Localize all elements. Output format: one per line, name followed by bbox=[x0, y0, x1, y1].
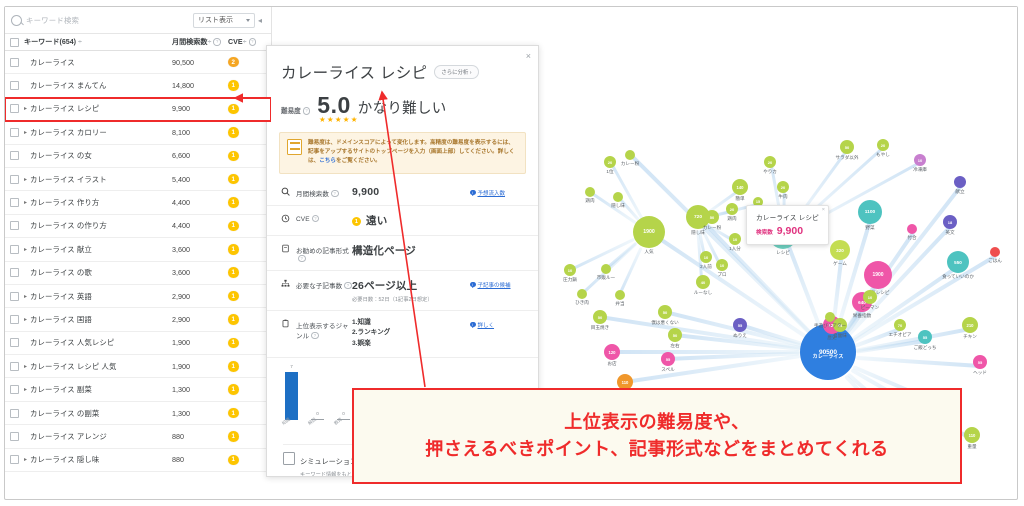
node-value: 10 bbox=[568, 268, 572, 273]
node-label: 牛肉 bbox=[778, 194, 787, 200]
tooltip-title: カレーライス レシピ bbox=[756, 212, 819, 222]
keyword-rows: カレーライス90,5002カレーライス まんてん14,8001▸カレーライス レ… bbox=[5, 51, 271, 477]
graph-node[interactable]: 20 bbox=[877, 139, 889, 151]
node-label: もやし bbox=[876, 152, 890, 158]
keyword-label: カレーライス 隠し味 bbox=[30, 454, 172, 465]
chart-bar: 0解説 bbox=[311, 419, 324, 420]
cve-badge: 1 bbox=[228, 197, 239, 208]
detail-label: CVE? bbox=[291, 213, 352, 223]
node-label: 簡単 bbox=[735, 196, 744, 202]
volume-value: 3,600 bbox=[172, 268, 228, 277]
table-row[interactable]: カレーライス の歌3,6001 bbox=[5, 262, 271, 285]
table-row[interactable]: カレーライス 人気レシピ1,9001 bbox=[5, 332, 271, 355]
cve-cell: 1 bbox=[228, 267, 266, 278]
simulation-title: シミュレーション bbox=[300, 457, 357, 466]
keyword-label: カレーライス まんてん bbox=[30, 80, 172, 91]
graph-node[interactable]: 10 bbox=[716, 259, 728, 271]
keyword-label: カレーライス 副菜 bbox=[30, 384, 172, 395]
row-checkbox[interactable] bbox=[10, 455, 19, 464]
node-value: 50 bbox=[845, 145, 849, 150]
node-value: 10 bbox=[704, 255, 708, 260]
notice-text: 難易度は、ドメインスコアによって変化します。高精度の難易度を表示するには、記事を… bbox=[308, 139, 518, 167]
row-checkbox[interactable] bbox=[10, 315, 19, 324]
node-label: ルーなし bbox=[694, 290, 712, 296]
row-checkbox[interactable] bbox=[10, 292, 19, 301]
node-label: カレー粉 bbox=[703, 225, 721, 231]
graph-node[interactable] bbox=[954, 176, 966, 188]
volume-value: 1,900 bbox=[172, 338, 228, 347]
cve-cell: 1 bbox=[228, 408, 266, 419]
keyword-toolbar: キーワード検索 リスト表示 ◂ bbox=[5, 7, 271, 34]
volume-value: 2,900 bbox=[172, 292, 228, 301]
clock-icon bbox=[279, 213, 291, 223]
app-screenshot: キーワード検索 リスト表示 ◂ キーワード(654) ÷ 月間検索数÷? CVE… bbox=[0, 0, 1024, 506]
detail-link[interactable]: i子記事の候補 bbox=[470, 278, 528, 289]
keyword-list-panel: キーワード検索 リスト表示 ◂ キーワード(654) ÷ 月間検索数÷? CVE… bbox=[5, 7, 272, 477]
keyword-label: カレーライス レシピ bbox=[30, 103, 172, 114]
row-checkbox[interactable] bbox=[10, 245, 19, 254]
node-label: 鶏肉 bbox=[585, 198, 594, 204]
node-value: 50 bbox=[673, 333, 677, 338]
cve-cell: 1 bbox=[228, 221, 266, 232]
cve-badge: 1 bbox=[228, 361, 239, 372]
keyword-label: カレーライス の副菜 bbox=[30, 408, 172, 419]
node-value: 55 bbox=[666, 357, 670, 362]
volume-value: 880 bbox=[172, 455, 228, 464]
tooltip-close-icon[interactable]: × bbox=[822, 207, 825, 213]
node-value: 10 bbox=[868, 295, 872, 300]
callout-line-2: 押さえるべきポイント、記事形式などをまとめてくれる bbox=[425, 436, 889, 463]
node-value: 320 bbox=[836, 248, 844, 253]
difficulty-notice: 難易度は、ドメインスコアによって変化します。高精度の難易度を表示するには、記事を… bbox=[279, 132, 526, 174]
node-label: 野菜 bbox=[865, 225, 874, 231]
node-label: やりカ bbox=[763, 169, 777, 175]
cve-cell: 1 bbox=[228, 151, 266, 162]
node-value: 140 bbox=[737, 185, 744, 190]
table-row[interactable]: ▸カレーライス カロリー8,1001 bbox=[5, 121, 271, 144]
table-row[interactable]: ▸カレーライス 副菜1,3001 bbox=[5, 378, 271, 401]
node-label: 冷凍庫 bbox=[913, 167, 927, 173]
node-label: ひき肉 bbox=[575, 300, 589, 306]
detail-rows: 月間検索数?9,900i予想流入数CVE?1遠いお勧めの記事形式?構造化ページ必… bbox=[267, 179, 538, 358]
detail-label: 月間検索数? bbox=[291, 186, 352, 198]
graph-node[interactable]: 10 bbox=[914, 154, 926, 166]
graph-node[interactable]: 50 bbox=[658, 305, 672, 319]
cve-badge: 1 bbox=[228, 314, 239, 325]
table-row[interactable]: ▸カレーライス イラスト5,4001 bbox=[5, 168, 271, 191]
tooltip-metric-label: 検索数 bbox=[756, 228, 773, 236]
node-label: カレー粉 bbox=[621, 161, 639, 167]
keyword-label: カレーライス 人気レシピ bbox=[30, 337, 172, 348]
node-label: 手遊びシアター bbox=[814, 323, 846, 329]
cve-badge: 1 bbox=[228, 291, 239, 302]
table-row[interactable]: ▸カレーライス 英語2,9001 bbox=[5, 285, 271, 308]
volume-value: 9,900 bbox=[172, 104, 228, 113]
detail-link bbox=[470, 243, 528, 246]
node-label: レシピ bbox=[776, 250, 790, 256]
node-label: 1位 bbox=[606, 169, 613, 175]
node-label: 目玉焼き bbox=[591, 325, 609, 331]
cve-badge: 1 bbox=[228, 455, 239, 466]
row-checkbox[interactable] bbox=[10, 432, 19, 441]
keyword-label: カレーライス bbox=[30, 57, 172, 68]
search-icon bbox=[279, 186, 291, 196]
keyword-label: カレーライス イラスト bbox=[30, 174, 172, 185]
node-label: 献立 bbox=[955, 189, 964, 195]
table-row[interactable]: ▸カレーライス 国語2,9001 bbox=[5, 308, 271, 331]
graph-tooltip: × カレーライス レシピ 検索数 9,900 bbox=[746, 205, 829, 245]
column-keyword[interactable]: キーワード(654) ÷ bbox=[24, 37, 172, 47]
node-label: 食っていいのか bbox=[942, 274, 974, 280]
cve-badge: 1 bbox=[228, 174, 239, 185]
row-checkbox[interactable] bbox=[10, 81, 19, 90]
chart-bar: 7知識 bbox=[285, 372, 298, 420]
keyword-label: カレーライス の歌 bbox=[30, 267, 172, 278]
node-label: 栄養指数 bbox=[853, 313, 871, 319]
graph-node[interactable]: 10 bbox=[700, 251, 712, 263]
node-value: 40 bbox=[701, 280, 705, 285]
keyword-label: カレーライス 献立 bbox=[30, 244, 172, 255]
node-label: ピーマン bbox=[861, 305, 879, 311]
detail-label: 必要な子記事数? bbox=[291, 278, 352, 290]
detail-link bbox=[470, 213, 528, 216]
search-placeholder: キーワード検索 bbox=[26, 15, 79, 26]
document-icon bbox=[279, 243, 291, 253]
select-all-checkbox[interactable] bbox=[10, 38, 19, 47]
table-row[interactable]: ▸カレーライス 隠し味8801 bbox=[5, 449, 271, 472]
cve-badge: 1 bbox=[228, 338, 239, 349]
table-row[interactable]: カレーライス の作り方4,4001 bbox=[5, 215, 271, 238]
node-label: 付合 bbox=[907, 235, 916, 241]
callout-line-1: 上位表示の難易度や、 bbox=[564, 409, 749, 436]
node-value: 210 bbox=[967, 323, 974, 328]
volume-value: 3,600 bbox=[172, 245, 228, 254]
detail-row: 必要な子記事数?26ページ以上必要日数：52日（1記事2日想定）i子記事の候補 bbox=[267, 271, 538, 311]
cve-cell: 1 bbox=[228, 431, 266, 442]
graph-node[interactable]: 320 bbox=[830, 240, 850, 260]
node-value: 110 bbox=[969, 433, 976, 438]
graph-node[interactable]: 20 bbox=[726, 203, 738, 215]
graph-node[interactable]: 50 bbox=[668, 328, 682, 342]
node-value: 10 bbox=[918, 158, 922, 163]
analyze-more-button[interactable]: さらに分析 › bbox=[434, 65, 478, 79]
calculator-icon bbox=[287, 139, 302, 155]
node-value: 50 bbox=[710, 215, 714, 220]
table-row[interactable]: カレーライス アレンジ8801 bbox=[5, 425, 271, 448]
node-label: エチオピア bbox=[889, 332, 912, 338]
graph-node[interactable] bbox=[907, 224, 917, 234]
table-row[interactable]: カレーライス の女6,6001 bbox=[5, 145, 271, 168]
node-value: 550 bbox=[954, 260, 962, 265]
node-label: 市販ルー bbox=[597, 275, 615, 281]
node-value: 50 bbox=[598, 315, 602, 320]
table-row[interactable]: カレーライス の副菜1,3001 bbox=[5, 402, 271, 425]
volume-value: 1,300 bbox=[172, 385, 228, 394]
cve-badge: 1 bbox=[228, 244, 239, 255]
graph-node[interactable] bbox=[585, 187, 595, 197]
graph-node[interactable] bbox=[990, 247, 1000, 257]
collapse-arrow-icon[interactable]: ◂ bbox=[255, 16, 265, 25]
detail-row: 上位表示するジャンル?1.知識2.ランキング3.娯楽i詳しく bbox=[267, 311, 538, 358]
column-cve[interactable]: CVE÷? bbox=[228, 38, 266, 46]
node-value: 1900 bbox=[643, 229, 655, 235]
graph-node[interactable]: 55 bbox=[661, 352, 675, 366]
graph-node[interactable]: 110 bbox=[964, 427, 980, 443]
node-value: 20 bbox=[881, 143, 885, 148]
node-value: 20 bbox=[781, 185, 785, 190]
volume-value: 1,300 bbox=[172, 409, 228, 418]
volume-value: 1,900 bbox=[172, 362, 228, 371]
graph-node[interactable]: 55 bbox=[733, 318, 747, 332]
info-icon: i bbox=[470, 282, 476, 288]
cve-cell: 2 bbox=[228, 57, 266, 68]
cve-badge: 1 bbox=[228, 267, 239, 278]
clipboard-icon bbox=[279, 318, 291, 328]
table-row[interactable]: カレーライス90,5002 bbox=[5, 51, 271, 74]
cve-badge: 1 bbox=[228, 127, 239, 138]
keyword-label: カレーライス の女 bbox=[30, 150, 172, 161]
detail-row: お勧めの記事形式?構造化ページ bbox=[267, 236, 538, 271]
graph-node[interactable]: 50 bbox=[840, 140, 854, 154]
volume-value: 6,600 bbox=[172, 151, 228, 160]
row-checkbox[interactable] bbox=[10, 409, 19, 418]
row-checkbox[interactable] bbox=[10, 175, 19, 184]
cve-cell: 1 bbox=[228, 361, 266, 372]
graph-node[interactable]: 18 bbox=[943, 215, 957, 229]
node-value: 1100 bbox=[865, 210, 875, 215]
cve-cell: 1 bbox=[228, 197, 266, 208]
graph-node[interactable]: 1900 bbox=[864, 261, 892, 289]
detail-value: 26ページ以上 bbox=[352, 278, 470, 293]
graph-node[interactable]: 50 bbox=[705, 210, 719, 224]
node-label: ごはん bbox=[988, 258, 1002, 264]
graph-node[interactable]: 1100 bbox=[858, 200, 882, 224]
node-label: 重量 bbox=[967, 444, 976, 450]
node-value: 20 bbox=[608, 160, 612, 165]
node-label: サラダ以外 bbox=[836, 155, 859, 161]
node-label: 圧力鍋 bbox=[563, 277, 577, 283]
close-icon[interactable]: × bbox=[526, 51, 531, 61]
column-volume[interactable]: 月間検索数÷? bbox=[172, 37, 228, 47]
node-value: 10 bbox=[733, 237, 737, 242]
node-value: 10 bbox=[720, 263, 724, 268]
cve-badge: 1 bbox=[228, 221, 239, 232]
graph-node[interactable] bbox=[601, 264, 611, 274]
cve-cell: 1 bbox=[228, 338, 266, 349]
graph-node[interactable] bbox=[613, 192, 623, 202]
node-label: 僕は悪くない bbox=[651, 320, 679, 326]
node-value: 50 bbox=[663, 310, 667, 315]
graph-node[interactable] bbox=[615, 290, 625, 300]
annotation-callout: 上位表示の難易度や、 押さえるべきポイント、記事形式などをまとめてくれる bbox=[352, 388, 962, 484]
row-checkbox[interactable] bbox=[10, 362, 19, 371]
node-label: ゲーム bbox=[833, 261, 847, 267]
detail-value: 9,900 bbox=[352, 186, 470, 198]
view-mode-value: リスト表示 bbox=[198, 15, 233, 25]
cve-cell: 1 bbox=[228, 291, 266, 302]
volume-value: 4,400 bbox=[172, 221, 228, 230]
node-label: カレーライス bbox=[813, 353, 844, 360]
detail-row: 月間検索数?9,900i予想流入数 bbox=[267, 179, 538, 206]
node-value: 15 bbox=[756, 200, 760, 204]
graph-node[interactable]: 550 bbox=[947, 251, 969, 273]
difficulty-label: 難易度? bbox=[281, 105, 310, 115]
cve-badge: 2 bbox=[228, 57, 239, 68]
cve-badge: 1 bbox=[228, 431, 239, 442]
row-checkbox[interactable] bbox=[10, 151, 19, 160]
cve-badge: 1 bbox=[352, 217, 361, 226]
volume-value: 14,800 bbox=[172, 81, 228, 90]
graph-node[interactable]: 20 bbox=[604, 156, 616, 168]
node-label: 人気 bbox=[644, 249, 653, 255]
keyword-label: カレーライス アレンジ bbox=[30, 431, 172, 442]
keyword-label: カレーライス の作り方 bbox=[30, 220, 172, 231]
search-icon bbox=[11, 15, 22, 26]
cve-badge: 1 bbox=[228, 408, 239, 419]
keyword-label: カレーライス カロリー bbox=[30, 127, 172, 138]
node-label: ご飯どっち bbox=[914, 345, 937, 351]
cve-badge: 1 bbox=[228, 384, 239, 395]
detail-row: CVE?1遠い bbox=[267, 206, 538, 236]
node-value: 20 bbox=[768, 160, 772, 165]
graph-node[interactable] bbox=[825, 312, 835, 322]
node-label: プロ bbox=[717, 272, 726, 278]
cve-cell: 1 bbox=[228, 127, 266, 138]
node-label: 英文 bbox=[945, 230, 954, 236]
keyword-label: カレーライス 英語 bbox=[30, 291, 172, 302]
cve-cell: 1 bbox=[228, 80, 266, 91]
cve-cell: 1 bbox=[228, 104, 266, 115]
graph-node[interactable]: 70 bbox=[894, 319, 906, 331]
graph-node[interactable]: 210 bbox=[962, 317, 978, 333]
graph-node[interactable] bbox=[577, 289, 587, 299]
volume-value: 880 bbox=[172, 432, 228, 441]
row-checkbox[interactable] bbox=[10, 385, 19, 394]
cve-badge: 1 bbox=[228, 80, 239, 91]
graph-node[interactable]: 10 bbox=[863, 290, 877, 304]
row-checkbox[interactable] bbox=[10, 104, 19, 113]
table-row[interactable]: カレーライス まんてん14,8001 bbox=[5, 74, 271, 97]
node-label: お店 bbox=[607, 361, 616, 367]
node-label: 1人分 bbox=[729, 246, 741, 252]
cve-cell: 1 bbox=[228, 244, 266, 255]
volume-value: 5,400 bbox=[172, 175, 228, 184]
node-value: 55 bbox=[738, 323, 742, 328]
graph-node[interactable]: 10 bbox=[729, 233, 741, 245]
node-label: 鶏肉 bbox=[727, 216, 736, 222]
node-label: 隠し味 bbox=[611, 203, 625, 209]
info-icon: i bbox=[470, 190, 476, 196]
search-input[interactable]: キーワード検索 bbox=[11, 15, 193, 26]
cve-cell: 1 bbox=[228, 384, 266, 395]
keyword-label: カレーライス レシピ 人気 bbox=[30, 361, 172, 372]
detail-link[interactable]: i予想流入数 bbox=[470, 186, 528, 197]
bar-value: 7 bbox=[285, 364, 298, 369]
detail-label: お勧めの記事形式? bbox=[291, 243, 352, 263]
graph-node[interactable]: 20 bbox=[764, 156, 776, 168]
cve-cell: 1 bbox=[228, 314, 266, 325]
detail-link[interactable]: i詳しく bbox=[470, 318, 528, 329]
chart-bar: 0教育 bbox=[337, 419, 350, 420]
graph-node[interactable]: 1900 bbox=[633, 216, 665, 248]
graph-node[interactable] bbox=[625, 150, 635, 160]
table-row[interactable]: ▸カレーライス 献立3,6001 bbox=[5, 238, 271, 261]
node-label: スペル bbox=[661, 367, 674, 373]
volume-value: 90,500 bbox=[172, 58, 228, 67]
node-value: 1900 bbox=[872, 272, 883, 278]
cve-badge: 1 bbox=[228, 151, 239, 162]
node-label: ぬりえ bbox=[733, 333, 747, 339]
node-value: 20 bbox=[730, 207, 734, 212]
cve-cell: 1 bbox=[228, 455, 266, 466]
modal-title: カレーライス レシピ bbox=[281, 61, 427, 83]
view-mode-select[interactable]: リスト表示 bbox=[193, 13, 255, 28]
node-value: 120 bbox=[609, 350, 616, 355]
node-label: ヘッド bbox=[973, 370, 987, 376]
graph-node[interactable]: 55 bbox=[918, 330, 932, 344]
row-checkbox[interactable] bbox=[10, 338, 19, 347]
graph-node[interactable]: 40 bbox=[696, 275, 710, 289]
cve-badge: 1 bbox=[228, 104, 239, 115]
hierarchy-icon bbox=[279, 278, 291, 288]
node-label: 2人前 bbox=[700, 264, 712, 270]
table-header: キーワード(654) ÷ 月間検索数÷? CVE÷? bbox=[5, 34, 271, 51]
row-checkbox[interactable] bbox=[10, 268, 19, 277]
table-row[interactable]: ▸カレーライス レシピ9,9001 bbox=[5, 98, 271, 121]
keyword-label: カレーライス 作り方 bbox=[30, 197, 172, 208]
genre-values: 1.知識2.ランキング3.娯楽 bbox=[352, 318, 470, 350]
info-icon: i bbox=[470, 322, 476, 328]
volume-value: 4,400 bbox=[172, 198, 228, 207]
detail-value: 構造化ページ bbox=[352, 243, 470, 258]
notice-link[interactable]: こちら bbox=[319, 158, 336, 164]
volume-value: 8,100 bbox=[172, 128, 228, 137]
graph-node[interactable]: 120 bbox=[604, 344, 620, 360]
node-value: 18 bbox=[948, 220, 952, 225]
node-value: 55 bbox=[923, 335, 927, 340]
graph-node[interactable]: 50 bbox=[593, 310, 607, 324]
detail-label: 上位表示するジャンル? bbox=[291, 318, 352, 340]
graph-node[interactable]: 20 bbox=[777, 181, 789, 193]
node-label: 自酸味 bbox=[833, 333, 847, 339]
node-label: チキン bbox=[963, 334, 977, 340]
row-checkbox[interactable] bbox=[10, 198, 19, 207]
node-label: 弁当 bbox=[615, 301, 624, 307]
detail-subtext: 必要日数：52日（1記事2日想定） bbox=[352, 295, 470, 303]
difficulty-text: かなり難しい bbox=[358, 97, 447, 118]
graph-node[interactable]: 140 bbox=[732, 179, 748, 195]
graph-node[interactable]: 55 bbox=[973, 355, 987, 369]
table-row[interactable]: ▸カレーライス レシピ 人気1,9001 bbox=[5, 355, 271, 378]
node-value: 720 bbox=[694, 215, 702, 220]
volume-value: 2,900 bbox=[172, 315, 228, 324]
graph-edge bbox=[856, 356, 980, 368]
row-checkbox[interactable] bbox=[10, 221, 19, 230]
node-value: 55 bbox=[978, 360, 982, 365]
node-label: 左右 bbox=[670, 343, 679, 349]
node-value: 70 bbox=[898, 323, 902, 328]
cve-cell: 1 bbox=[228, 174, 266, 185]
node-value: 110 bbox=[622, 380, 629, 385]
table-row[interactable]: カレーライス 重松清8801 bbox=[5, 472, 271, 477]
graph-node[interactable]: 10 bbox=[564, 264, 576, 276]
table-row[interactable]: ▸カレーライス 作り方4,4001 bbox=[5, 191, 271, 214]
tooltip-metric-value: 9,900 bbox=[777, 225, 803, 237]
simulation-icon bbox=[283, 452, 295, 465]
row-checkbox[interactable] bbox=[10, 128, 19, 137]
keyword-label: カレーライス 国語 bbox=[30, 314, 172, 325]
row-checkbox[interactable] bbox=[10, 58, 19, 67]
